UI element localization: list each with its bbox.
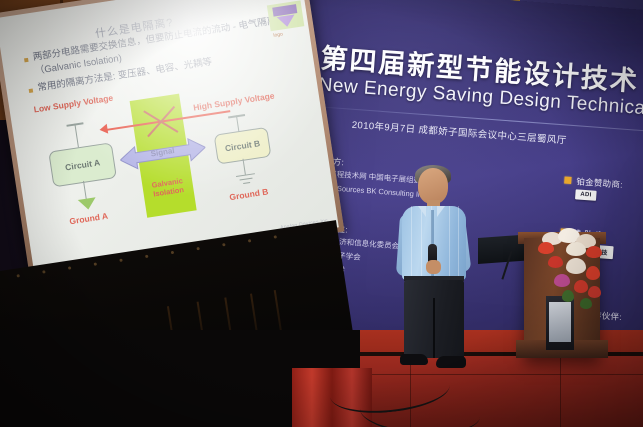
speaker-shoe-left	[400, 354, 428, 365]
speaker-collar	[418, 206, 426, 217]
bullet-square-icon	[564, 176, 571, 183]
speaker-shoe-right	[436, 356, 466, 368]
label-ground-a: Ground A	[51, 209, 128, 230]
speaker-hand	[426, 260, 441, 274]
supply-stem-b	[236, 115, 240, 132]
bullet-dot-icon	[24, 58, 29, 63]
bullet-dot-icon	[29, 88, 34, 93]
label-high-supply-voltage: High Supply Voltage	[193, 92, 274, 114]
sponsor-tier-row: 铂金赞助商: ADI	[563, 174, 643, 209]
speaker-head	[418, 168, 448, 204]
speaker-collar	[437, 206, 445, 217]
label-ground-b: Ground B	[213, 185, 286, 205]
conference-photo: 第四届新型节能设计技术 New Energy Saving Design Tec…	[0, 0, 643, 427]
ground-stem-b	[243, 159, 246, 175]
speaker	[392, 168, 478, 370]
sponsor-logo: ADI	[575, 189, 597, 201]
supply-stem-a	[74, 123, 79, 147]
slide-corner-logo: logo	[267, 0, 307, 51]
banner-title-block: 第四届新型节能设计技术 New Energy Saving Design Tec…	[318, 44, 643, 125]
trouser-split	[433, 298, 435, 358]
cross-out-icon	[139, 105, 177, 140]
ground-a-triangle-icon	[78, 197, 97, 211]
riser-seam	[560, 356, 561, 427]
flower-arrangement	[536, 228, 610, 318]
